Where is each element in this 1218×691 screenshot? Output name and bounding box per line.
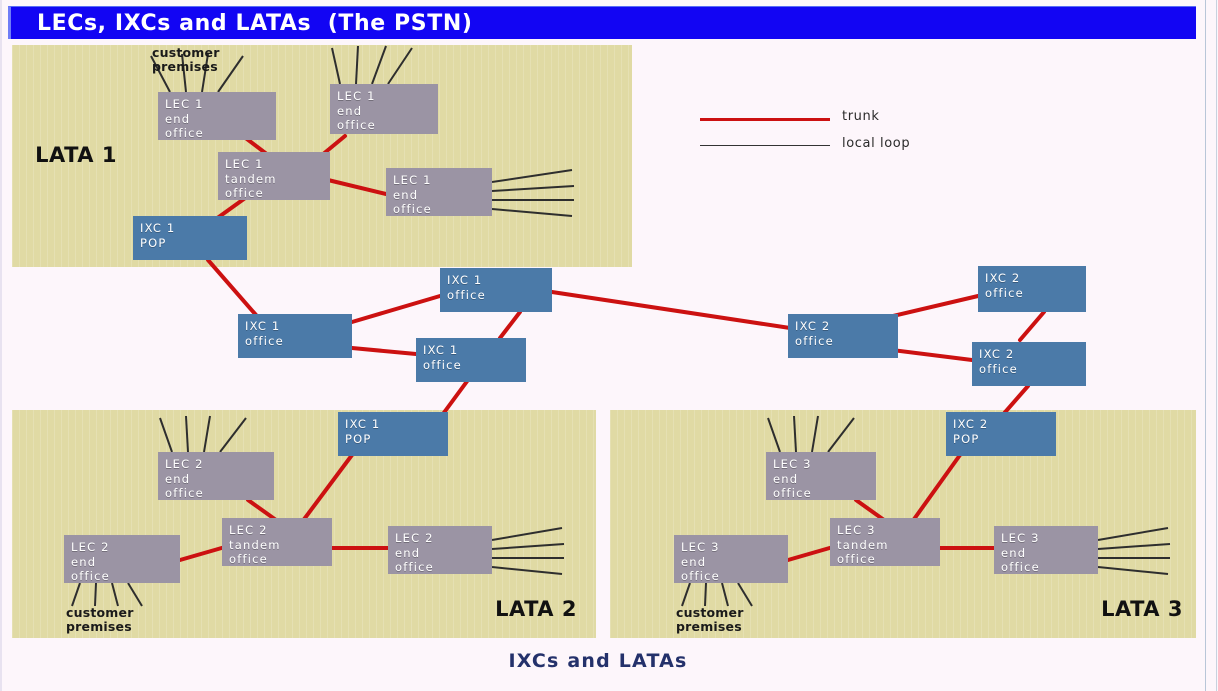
node-lec1-tandem-office[interactable]: LEC 1 tandem office <box>218 152 330 200</box>
figure-caption: IXCs and LATAs <box>0 650 1196 672</box>
page-right-rule-2 <box>1216 0 1217 691</box>
lata-2-label: LATA 2 <box>488 600 584 619</box>
node-ixc2-office-west[interactable]: IXC 2 office <box>788 314 898 358</box>
node-lec3-end-office-b[interactable]: LEC 3 end office <box>674 535 788 583</box>
customer-premises-label-lata1: customer premises <box>152 46 220 74</box>
page-left-rule <box>0 0 2 691</box>
node-lec1-end-office-b[interactable]: LEC 1 end office <box>330 84 438 134</box>
legend: trunk local loop <box>700 108 1000 164</box>
diagram-canvas: LECs, IXCs and LATAs (The PSTN) <box>0 0 1218 691</box>
page-right-rule-1 <box>1205 0 1206 691</box>
legend-row-local-loop: local loop <box>700 135 1000 157</box>
trunk-line-swatch <box>700 118 830 121</box>
legend-row-trunk: trunk <box>700 108 1000 130</box>
node-ixc2-office-south[interactable]: IXC 2 office <box>972 342 1086 386</box>
node-lec2-tandem-office[interactable]: LEC 2 tandem office <box>222 518 332 566</box>
node-lec1-end-office-a[interactable]: LEC 1 end office <box>158 92 276 140</box>
lata-1-label: LATA 1 <box>28 146 124 165</box>
legend-label-local-loop: local loop <box>842 136 910 151</box>
node-lec2-end-office-c[interactable]: LEC 2 end office <box>388 526 492 574</box>
node-lec3-end-office-c[interactable]: LEC 3 end office <box>994 526 1098 574</box>
node-ixc1-office-south[interactable]: IXC 1 office <box>416 338 526 382</box>
local-loop-line-swatch <box>700 145 830 146</box>
node-ixc1-office-west[interactable]: IXC 1 office <box>238 314 352 358</box>
node-ixc2-pop[interactable]: IXC 2 POP <box>946 412 1056 456</box>
node-lec3-tandem-office[interactable]: LEC 3 tandem office <box>830 518 940 566</box>
node-ixc1-pop-b[interactable]: IXC 1 POP <box>338 412 448 456</box>
lata-3-label: LATA 3 <box>1094 600 1190 619</box>
node-lec2-end-office-b[interactable]: LEC 2 end office <box>64 535 180 583</box>
customer-premises-label-lata3: customer premises <box>676 606 744 634</box>
node-lec1-end-office-c[interactable]: LEC 1 end office <box>386 168 492 216</box>
page-title: LECs, IXCs and LATAs (The PSTN) <box>37 11 473 36</box>
node-lec2-end-office-a[interactable]: LEC 2 end office <box>158 452 274 500</box>
legend-label-trunk: trunk <box>842 109 879 124</box>
customer-premises-label-lata2: customer premises <box>66 606 134 634</box>
node-ixc2-office-north[interactable]: IXC 2 office <box>978 266 1086 312</box>
node-lec3-end-office-a[interactable]: LEC 3 end office <box>766 452 876 500</box>
node-ixc1-office-north[interactable]: IXC 1 office <box>440 268 552 312</box>
node-ixc1-pop-a[interactable]: IXC 1 POP <box>133 216 247 260</box>
title-bar: LECs, IXCs and LATAs (The PSTN) <box>8 6 1196 39</box>
